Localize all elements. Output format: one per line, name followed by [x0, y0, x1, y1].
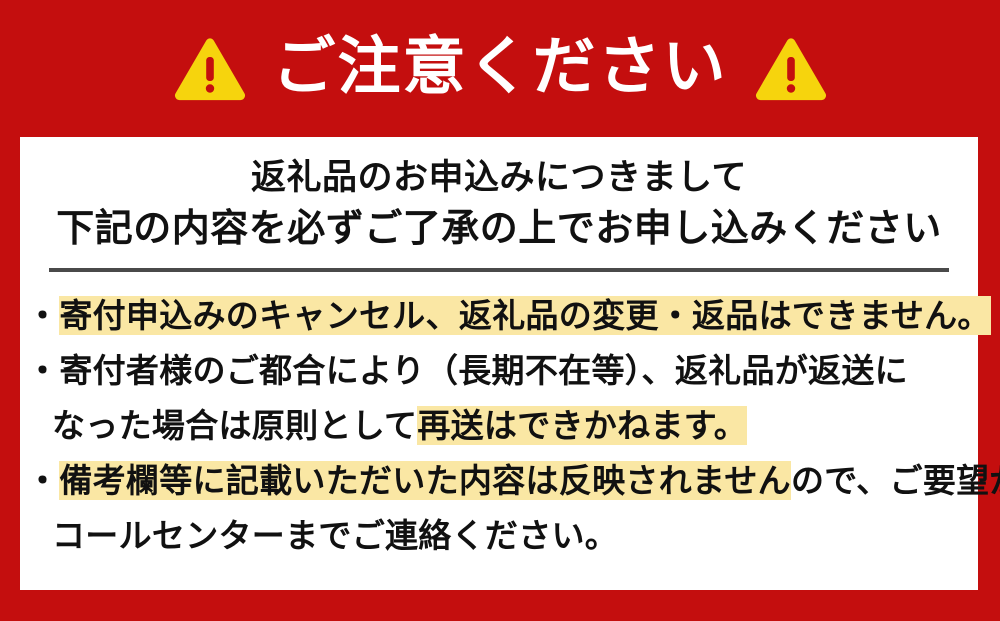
notice-bullet-line: コールセンターまでご連絡ください。 [26, 508, 972, 563]
warning-banner: ご注意ください 返礼品のお申込みにつきまして 下記の内容を必ずご了承の上でお申し… [0, 0, 1000, 621]
warning-triangle-icon [173, 36, 247, 102]
notice-bullet-item: ・寄付者様のご都合により（長期不在等）、返礼品が返送になった場合は原則として再送… [26, 343, 972, 453]
notice-bullet-item: ・寄付申込みのキャンセル、返礼品の変更・返品はできません。 [26, 288, 972, 343]
notice-text: ので、ご要望がある際は [791, 461, 1000, 500]
notice-bullet-line: ・寄付申込みのキャンセル、返礼品の変更・返品はできません。 [26, 288, 972, 343]
notice-text: 寄付者様のご都合により（長期不在等）、返礼品が返送に [59, 351, 908, 390]
page-title: ご注意ください [273, 35, 728, 98]
subtitle-line-2: 下記の内容を必ずご了承の上でお申し込みください [20, 202, 978, 254]
section-divider [49, 268, 949, 272]
bullet-marker: ・ [26, 343, 59, 398]
notice-text: なった場合は原則として [52, 406, 417, 445]
warning-triangle-icon [754, 36, 828, 102]
subtitle-line-1: 返礼品のお申込みにつきまして [20, 154, 978, 202]
notice-card: 返礼品のお申込みにつきまして 下記の内容を必ずご了承の上でお申し込みください ・… [20, 137, 978, 590]
bullet-marker: ・ [26, 288, 59, 343]
banner-header: ご注意ください [0, 0, 1000, 137]
notice-bullet-line: ・寄付者様のご都合により（長期不在等）、返礼品が返送に [26, 343, 972, 398]
notice-text: コールセンターまでご連絡ください。 [52, 516, 618, 555]
notice-bullet-item: ・備考欄等に記載いただいた内容は反映されませんので、ご要望がある際はコールセンタ… [26, 453, 972, 563]
notice-bullet-list: ・寄付申込みのキャンセル、返礼品の変更・返品はできません。・寄付者様のご都合によ… [20, 288, 978, 563]
highlighted-text: 備考欄等に記載いただいた内容は反映されません [59, 461, 791, 500]
notice-bullet-line: なった場合は原則として再送はできかねます。 [26, 398, 972, 453]
notice-bullet-line: ・備考欄等に記載いただいた内容は反映されませんので、ご要望がある際は [26, 453, 972, 508]
highlighted-text: 寄付申込みのキャンセル、返礼品の変更・返品はできません。 [59, 296, 990, 335]
subtitle-block: 返礼品のお申込みにつきまして 下記の内容を必ずご了承の上でお申し込みください [20, 137, 978, 254]
highlighted-text: 再送はできかねます。 [417, 406, 747, 445]
bullet-marker: ・ [26, 453, 59, 508]
